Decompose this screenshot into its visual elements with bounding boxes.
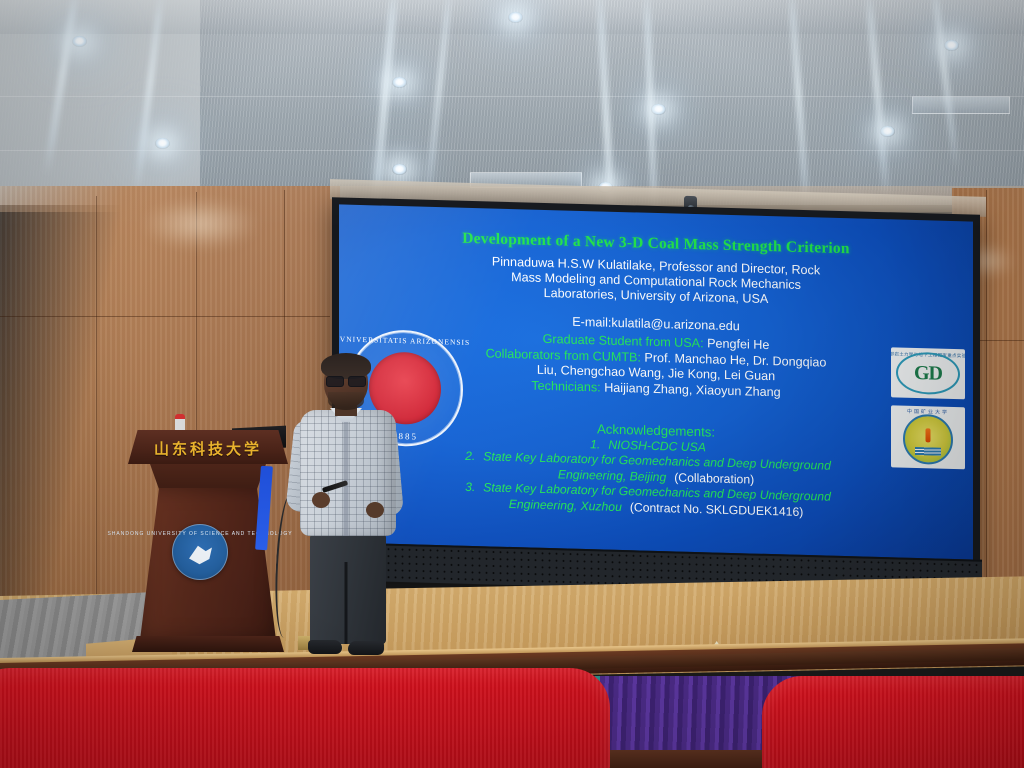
- presenter-leg-seam: [345, 562, 348, 644]
- presentation-slide: Development of a New 3-D Coal Mass Stren…: [339, 204, 973, 562]
- podium-top: 山东科技大学: [128, 430, 288, 464]
- ceiling-seam: [0, 150, 1024, 151]
- ack-text: Engineering, Xuzhou: [509, 497, 622, 515]
- ceiling-spotlight: [72, 36, 87, 47]
- ceiling-spotlight: [155, 138, 170, 149]
- glasses-lens-right: [348, 376, 366, 387]
- wall-light-reflection: [140, 198, 260, 250]
- presenter-hand-right: [366, 502, 384, 518]
- ceiling-spotlight: [880, 126, 895, 137]
- podium-university-name: 山东科技大学: [128, 438, 288, 459]
- sdust-emblem-icon: SHANDONG UNIVERSITY OF SCIENCE AND TECHN…: [172, 524, 228, 580]
- presenter-legs: [310, 532, 386, 644]
- slide-affiliation: Pinnaduwa H.S.W Kulatilake, Professor an…: [385, 252, 927, 312]
- people-label: Technicians:: [531, 378, 600, 394]
- book-icon: [915, 447, 941, 456]
- seat-fabric-texture: [0, 668, 610, 768]
- presenter: [288, 356, 404, 656]
- glasses-icon: [326, 376, 366, 385]
- sdust-leaf-icon: [187, 543, 213, 565]
- presenter-hand-left: [312, 492, 330, 508]
- people-value: Pengfei He: [707, 336, 769, 352]
- ceiling-vent: [912, 96, 1010, 114]
- ack-number: 2.: [465, 449, 475, 465]
- ceiling-spotlight: [392, 77, 407, 88]
- torch-icon: [926, 428, 931, 442]
- ceiling: [0, 0, 1024, 205]
- presenter-shirt-placket: [344, 412, 349, 536]
- glasses-lens-left: [326, 376, 344, 387]
- ceiling-seam: [0, 96, 1024, 97]
- podium-base: [132, 636, 284, 652]
- presenter-beard: [328, 392, 364, 410]
- lecture-hall-scene: Development of a New 3-D Coal Mass Stren…: [0, 0, 1024, 768]
- cumtb-logo-icon: 中国矿业大学: [891, 405, 965, 469]
- people-label: Collaborators from CUMTB:: [486, 346, 641, 364]
- wall-panel-seam: [0, 316, 330, 317]
- ceiling-spotlight: [944, 40, 959, 51]
- auditorium-seat[interactable]: [0, 668, 610, 768]
- acknowledgements-list: 1. NIOSH-CDC USA 2. State Key Laboratory…: [367, 431, 937, 523]
- seat-fabric-texture: [762, 676, 1024, 768]
- projection-screen[interactable]: Development of a New 3-D Coal Mass Stren…: [339, 204, 973, 562]
- wall-panel-seam: [284, 190, 285, 430]
- gd-ring-icon: GD: [896, 351, 960, 395]
- podium-neck: [150, 464, 266, 490]
- ack-number: 3.: [465, 480, 475, 496]
- ack-number: 1.: [590, 437, 600, 453]
- cumtb-emblem-icon: [903, 414, 953, 465]
- wall-panel-seam: [96, 196, 97, 636]
- presenter-shoe-right: [348, 641, 384, 655]
- seat-row-frame: [598, 750, 768, 768]
- ceiling-spotlight: [651, 104, 666, 115]
- ceiling-spotlight: [508, 12, 523, 23]
- gd-monogram: GD: [914, 361, 942, 385]
- auditorium-seat[interactable]: [762, 676, 1024, 768]
- ack-note: (Contract No. SKLGDUEK1416): [630, 500, 803, 520]
- gd-lab-logo-icon: 深部岩土力学与地下工程国家重点实验室 GD: [891, 347, 965, 399]
- ceiling-spotlight: [392, 164, 407, 175]
- presenter-shoe-left: [308, 640, 342, 654]
